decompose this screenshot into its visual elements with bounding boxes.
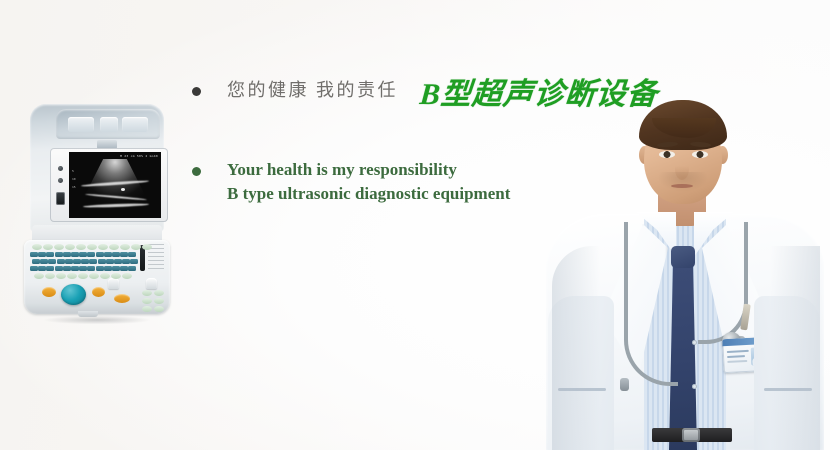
power-switch-icon	[56, 192, 65, 205]
machine-keyboard-deck	[24, 240, 170, 314]
orange-function-key	[92, 287, 105, 297]
keyboard-key	[112, 266, 120, 271]
keyboard-key	[56, 273, 66, 279]
keyboard-key	[73, 259, 81, 264]
keyboard-key	[79, 252, 87, 257]
keyboard-key	[45, 273, 55, 279]
keyboard-key	[65, 259, 73, 264]
ultrasound-product-banner: M 23 cm 50% 2 Gn40 5 10 15	[0, 0, 830, 450]
english-tagline-row: Your health is my responsibility B type …	[192, 158, 658, 206]
orange-function-key	[42, 287, 56, 297]
bullet-dot-icon	[192, 167, 201, 176]
machine-front-foot	[78, 311, 98, 317]
keyboard-key	[154, 306, 164, 312]
keyboard-key	[104, 252, 112, 257]
keyboard-key	[63, 266, 71, 271]
coat-button	[692, 384, 697, 389]
chinese-subtitle: 您的健康 我的责任	[227, 78, 398, 102]
control-knob	[108, 278, 119, 289]
id-badge-text-line	[727, 360, 747, 363]
keyboard-key	[122, 259, 130, 264]
keyboard-key	[79, 266, 87, 271]
trackball	[61, 284, 86, 305]
keyboard-key	[89, 259, 97, 264]
keyboard-key	[120, 266, 128, 271]
keyboard-key	[30, 266, 38, 271]
keyboard-key	[114, 259, 122, 264]
probe-slot	[100, 117, 118, 132]
keyboard-key	[46, 266, 54, 271]
keyboard-key	[87, 252, 95, 257]
scan-marker-dot	[121, 188, 125, 191]
keyboard-key	[154, 290, 164, 296]
keyboard-key	[55, 252, 63, 257]
banner-copy-block: 您的健康 我的责任 B型超声诊断设备 Your health is my res…	[192, 78, 658, 206]
chinese-tagline-row: 您的健康 我的责任 B型超声诊断设备	[192, 78, 658, 111]
keyboard-key	[120, 244, 130, 250]
keyboard-key	[30, 252, 38, 257]
probe-slot	[68, 117, 94, 132]
keyboard-key	[55, 266, 63, 271]
monitor-control-button	[58, 178, 63, 183]
keyboard-key	[32, 259, 40, 264]
coat-fold-shadow	[758, 246, 820, 450]
chinese-headline: B型超声诊断设备	[419, 78, 660, 111]
keyboard-key	[142, 298, 152, 304]
monitor-control-button	[58, 166, 63, 171]
bullet-dot-icon	[192, 87, 201, 96]
machine-lid-housing: M 23 cm 50% 2 Gn40 5 10 15	[30, 104, 164, 232]
monitor-bezel: M 23 cm 50% 2 Gn40 5 10 15	[50, 148, 168, 222]
control-knob	[146, 278, 157, 289]
mouth	[671, 184, 693, 188]
eye	[692, 151, 708, 158]
keyboard-key	[120, 252, 128, 257]
keyboard-key	[109, 244, 119, 250]
keyboard-key	[142, 306, 152, 312]
keyboard-key	[38, 266, 46, 271]
stethoscope-tube	[624, 222, 678, 386]
keyboard-key	[142, 290, 152, 296]
keyboard-key	[142, 244, 152, 250]
keyboard-key	[32, 244, 42, 250]
keyboard-key	[63, 252, 71, 257]
keyboard-key	[104, 266, 112, 271]
probe-slot	[122, 117, 148, 132]
keyboard-key	[67, 273, 77, 279]
keyboard-key	[154, 298, 164, 304]
coat-fold-shadow	[552, 246, 612, 450]
keyboard-key	[71, 266, 79, 271]
keyboard-key	[100, 273, 110, 279]
keyboard-key	[54, 244, 64, 250]
keyboard-key	[87, 266, 95, 271]
id-badge-text-line	[727, 355, 745, 358]
keyboard-key	[131, 244, 141, 250]
keyboard-key	[46, 252, 54, 257]
keyboard-key	[96, 266, 104, 271]
keyboard-key	[43, 244, 53, 250]
coat-button	[692, 340, 697, 345]
keyboard-key	[96, 252, 104, 257]
english-line-2: B type ultrasonic diagnostic equipment	[227, 184, 510, 203]
keyboard-key	[128, 252, 136, 257]
id-badge-text-line	[727, 350, 749, 353]
english-line-1: Your health is my responsibility	[227, 160, 457, 179]
keyboard-key	[78, 273, 88, 279]
keyboard-key	[38, 252, 46, 257]
english-tagline: Your health is my responsibility B type …	[227, 158, 510, 206]
ultrasound-screen: M 23 cm 50% 2 Gn40 5 10 15	[69, 152, 161, 218]
keyboard-key	[106, 259, 114, 264]
keyboard-key	[81, 259, 89, 264]
keyboard-key	[89, 273, 99, 279]
nose	[675, 158, 689, 180]
keyboard-key	[87, 244, 97, 250]
ultrasound-machine-image: M 23 cm 50% 2 Gn40 5 10 15	[18, 104, 176, 322]
probe-holder-tray	[56, 109, 160, 139]
keyboard-key	[48, 259, 56, 264]
eye	[659, 151, 675, 158]
keyboard-key	[98, 259, 106, 264]
belt-buckle	[682, 428, 700, 442]
keyboard-key	[34, 273, 44, 279]
keyboard-key	[57, 259, 65, 264]
keyboard-key	[122, 273, 132, 279]
stethoscope-earpiece	[620, 378, 629, 391]
keyboard-key	[111, 273, 121, 279]
keyboard-key	[130, 259, 138, 264]
screen-depth-ruler: 5 10 15	[72, 168, 76, 191]
keyboard-key	[65, 244, 75, 250]
keyboard-key	[98, 244, 108, 250]
keyboard-key	[128, 266, 136, 271]
keyboard-key	[112, 252, 120, 257]
keyboard-key	[76, 244, 86, 250]
keyboard-key	[71, 252, 79, 257]
keyboard-key	[40, 259, 48, 264]
orange-function-key	[114, 294, 130, 303]
screen-osd-text: M 23 cm 50% 2 Gn40	[120, 154, 158, 159]
